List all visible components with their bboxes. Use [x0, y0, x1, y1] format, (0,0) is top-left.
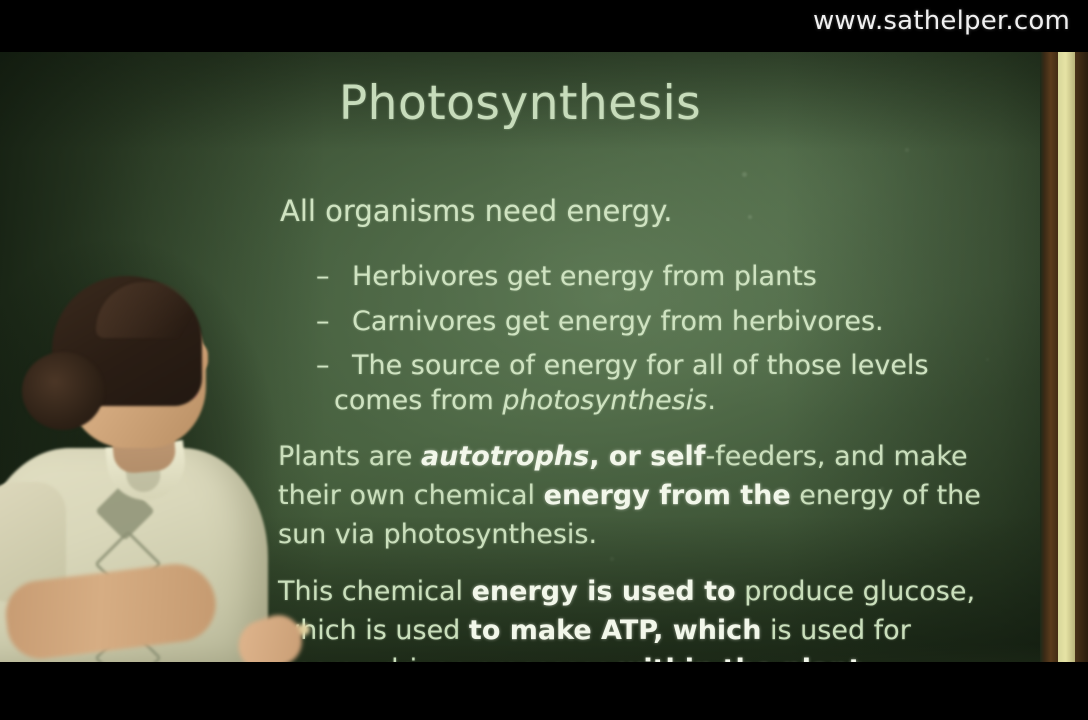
- list-item-continuation: comes from photosynthesis.: [334, 384, 976, 419]
- slide-lead-text: All organisms need energy.: [280, 194, 672, 228]
- video-scene: Photosynthesis All organisms need energy…: [0, 52, 1088, 662]
- emphasis-to-make-atp: to make ATP, which: [469, 615, 762, 646]
- video-frame: Photosynthesis All organisms need energy…: [0, 0, 1088, 720]
- bullet-dash-icon: –: [316, 260, 330, 295]
- slide-content: Photosynthesis All organisms need energy…: [0, 52, 1040, 662]
- board-frame-wood-light: [1058, 52, 1075, 662]
- emphasis-energy-from-the: energy from the: [544, 480, 791, 511]
- letterbox-bar-bottom: [0, 662, 1088, 720]
- emphasis-photosynthesis: photosynthesis: [502, 385, 707, 416]
- board-frame-wood-dark: [1040, 52, 1058, 662]
- emphasis-within-the-plant: within the plant.: [618, 654, 871, 662]
- list-item-text: Herbivores get energy from plants: [352, 261, 817, 292]
- slide-title: Photosynthesis: [0, 76, 1040, 131]
- board-frame-wood-edge: [1075, 52, 1088, 662]
- emphasis-energy-is-used-to: energy is used to: [472, 576, 736, 607]
- paragraph-autotrophs: Plants are autotrophs, or self-feeders, …: [278, 438, 994, 555]
- list-item: – Herbivores get energy from plants: [316, 260, 976, 295]
- list-item-text: The source of energy for all of those le…: [352, 350, 929, 381]
- paragraph-glucose-atp: This chemical energy is used to produce …: [278, 573, 994, 662]
- bullet-dash-icon: –: [316, 305, 330, 340]
- watermark-url: www.sathelper.com: [813, 6, 1070, 36]
- bullet-list: – Herbivores get energy from plants – Ca…: [316, 260, 976, 428]
- list-item: – Carnivores get energy from herbivores.: [316, 305, 976, 340]
- list-item: – The source of energy for all of those …: [316, 349, 976, 418]
- bullet-dash-icon: –: [316, 349, 330, 384]
- emphasis-autotrophs: autotrophs: [421, 441, 589, 472]
- list-item-text: Carnivores get energy from herbivores.: [352, 306, 884, 337]
